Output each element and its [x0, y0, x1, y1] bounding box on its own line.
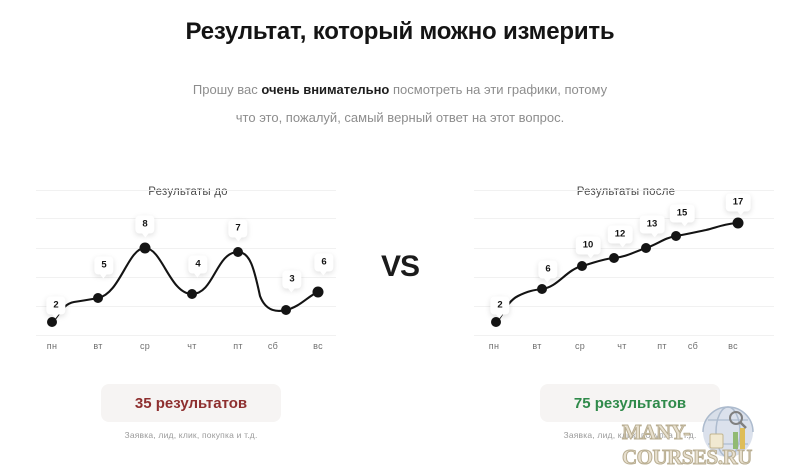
chart-before-xtick-5: сб [268, 341, 278, 351]
chart-before: Результаты до 2 5 8 4 7 3 6 пн вт [28, 186, 348, 361]
chart-after-xtick-3: чт [617, 341, 626, 351]
chart-before-value-5: 3 [282, 271, 301, 289]
chart-after-xtick-4: пт [657, 341, 667, 351]
result-box-after: 75 результатов [540, 384, 720, 422]
chart-after-xtick-6: вс [728, 341, 738, 351]
chart-before-value-4: 7 [228, 220, 247, 238]
chart-after-value-6: 17 [726, 194, 751, 212]
chart-before-xtick-1: вт [93, 341, 102, 351]
chart-after-xtick-1: вт [532, 341, 541, 351]
chart-after-value-5: 15 [670, 205, 695, 223]
subtitle-emphasis: очень внимательно [261, 82, 389, 97]
chart-before-xtick-4: пт [233, 341, 243, 351]
chart-after-value-1: 6 [538, 261, 557, 279]
chart-after-value-3: 12 [608, 226, 633, 244]
chart-after-xaxis: пн вт ср чт пт сб вс [466, 341, 786, 357]
result-caption-after: Заявка, лид, клик, покупка и т.д. [510, 430, 750, 440]
chart-before-value-3: 4 [188, 256, 207, 274]
chart-after-value-0: 2 [490, 297, 509, 315]
chart-after: Результаты после 2 6 10 12 13 15 17 пн [466, 186, 786, 361]
result-value-after: 75 результатов [574, 395, 686, 412]
chart-before-xtick-3: чт [187, 341, 196, 351]
chart-after-value-4: 13 [640, 216, 665, 234]
vs-label: VS [370, 250, 430, 284]
chart-after-xtick-5: сб [688, 341, 698, 351]
result-value-before: 35 результатов [135, 395, 247, 412]
chart-after-xtick-0: пн [489, 341, 499, 351]
chart-before-value-1: 5 [94, 257, 113, 275]
result-caption-before: Заявка, лид, клик, покупка и т.д. [71, 430, 311, 440]
page-title: Результат, который можно измерить [0, 18, 800, 46]
watermark-text: MANY-COURSES.RU [622, 420, 800, 470]
chart-before-xaxis: пн вт ср чт пт сб вс [28, 341, 348, 357]
chart-before-value-2: 8 [135, 216, 154, 234]
chart-before-xtick-6: вс [313, 341, 323, 351]
slide-root: Результат, который можно измерить Прошу … [0, 0, 800, 459]
chart-before-value-6: 6 [314, 254, 333, 272]
chart-before-value-0: 2 [46, 297, 65, 315]
result-box-before: 35 результатов [101, 384, 281, 422]
chart-before-xtick-0: пн [47, 341, 57, 351]
chart-after-xtick-2: ср [575, 341, 585, 351]
subtitle-text-lead: Прошу вас [193, 82, 261, 97]
chart-after-value-2: 10 [576, 237, 601, 255]
page-subtitle: Прошу вас очень внимательно посмотреть н… [190, 76, 610, 132]
chart-before-xtick-2: ср [140, 341, 150, 351]
